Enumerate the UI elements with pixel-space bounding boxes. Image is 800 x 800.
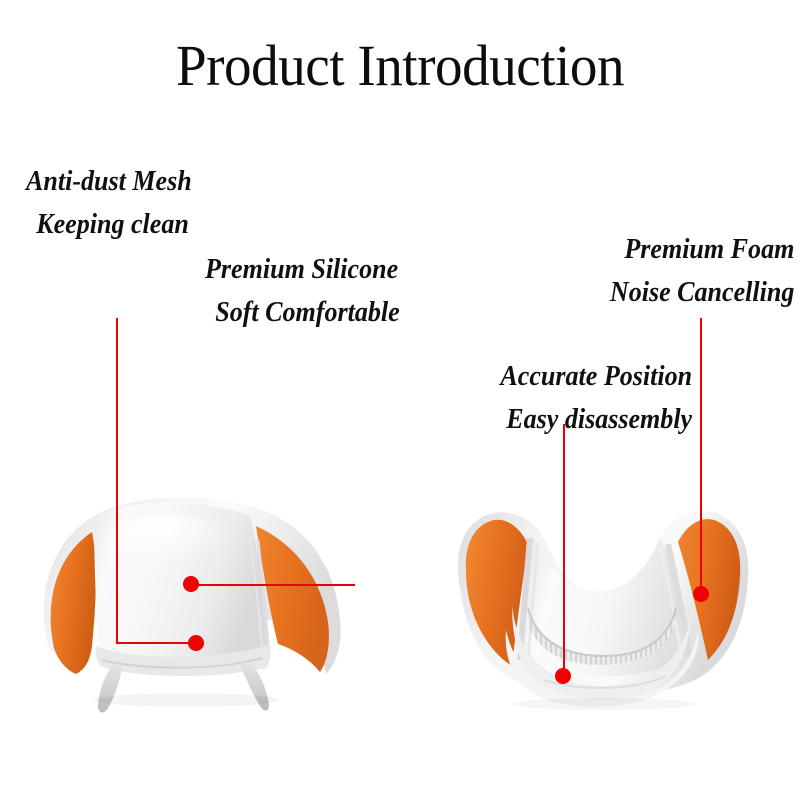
callout-line-primary: Premium Foam bbox=[610, 228, 794, 271]
callout-anti-dust-mesh: Anti-dust Mesh Keeping clean bbox=[26, 160, 192, 246]
contact-shadow bbox=[512, 698, 696, 710]
body-highlight bbox=[102, 514, 234, 582]
callout-line-primary: Anti-dust Mesh bbox=[26, 160, 192, 203]
leader-line-anti-dust-vertical bbox=[116, 318, 118, 644]
mount-prong-left bbox=[98, 666, 122, 713]
callout-premium-silicone: Premium Silicone Soft Comfortable bbox=[205, 248, 400, 334]
leader-line-accurate-position bbox=[563, 424, 565, 676]
callout-accurate-position: Accurate Position Easy disassembly bbox=[500, 355, 692, 441]
contact-shadow bbox=[94, 693, 278, 707]
foam-panel-left bbox=[51, 532, 96, 674]
callout-line-primary: Premium Silicone bbox=[205, 248, 400, 291]
callout-premium-foam: Premium Foam Noise Cancelling bbox=[610, 228, 794, 314]
leader-line-premium-foam bbox=[700, 318, 702, 596]
marker-dot-premium-foam bbox=[693, 586, 709, 602]
leader-line-premium-silicone bbox=[197, 584, 355, 586]
product-image-earpiece-front bbox=[10, 470, 390, 720]
marker-dot-accurate-position bbox=[555, 668, 571, 684]
leader-line-anti-dust-horizontal bbox=[116, 642, 198, 644]
callout-line-secondary: Soft Comfortable bbox=[205, 291, 400, 334]
callout-line-secondary: Noise Cancelling bbox=[610, 271, 794, 314]
product-introduction-page: Product Introduction bbox=[0, 0, 800, 800]
callout-line-primary: Accurate Position bbox=[500, 355, 692, 398]
product-image-earpiece-inverted bbox=[440, 480, 780, 720]
marker-dot-anti-dust bbox=[188, 635, 204, 651]
page-title: Product Introduction bbox=[20, 36, 780, 97]
callout-line-secondary: Keeping clean bbox=[26, 203, 192, 246]
callout-line-secondary: Easy disassembly bbox=[500, 398, 692, 441]
